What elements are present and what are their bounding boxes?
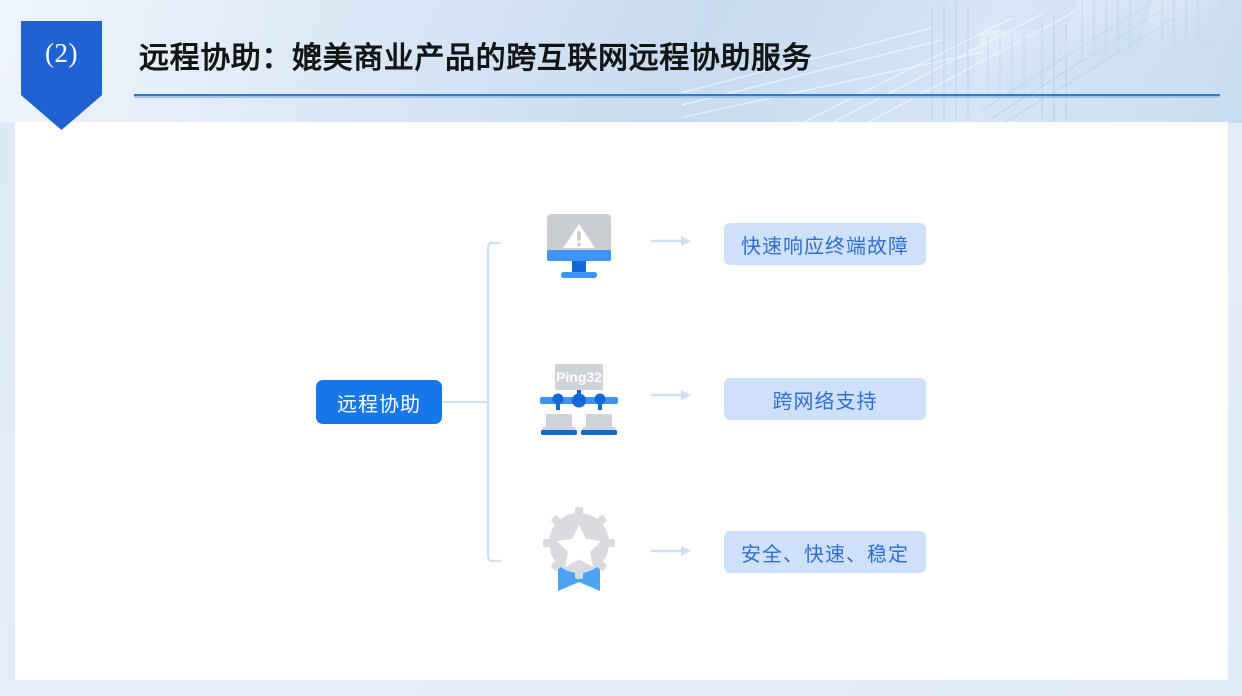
branch-label-text-2: 跨网络支持 [773, 385, 878, 414]
arrow-right-icon-1 [652, 236, 691, 246]
network-icon-caption: Ping32 [556, 369, 602, 385]
branch-label-pill-3[interactable]: 安全、快速、稳定 [724, 531, 926, 573]
monitor-warning-icon [531, 200, 627, 296]
diagram-root-node[interactable]: 远程协助 [316, 380, 442, 424]
mindmap-diagram: 远程协助 Ping32 [0, 0, 1242, 696]
arrow-right-icon-2 [652, 390, 691, 400]
presentation-slide: (2) 远程协助：媲美商业产品的跨互联网远程协助服务 [0, 0, 1242, 696]
branch-label-text-3: 安全、快速、稳定 [741, 538, 909, 567]
page-title: 远程协助：媲美商业产品的跨互联网远程协助服务 [139, 33, 812, 77]
award-badge-star-icon [531, 503, 627, 599]
branch-label-text-1: 快速响应终端故障 [741, 230, 909, 259]
branch-label-pill-1[interactable]: 快速响应终端故障 [724, 223, 926, 265]
title-divider-rule [134, 94, 1220, 98]
arrow-right-icon-3 [652, 546, 691, 556]
slide-number-label: (2) [45, 38, 78, 69]
network-topology-icon: Ping32 [531, 352, 627, 448]
branch-label-pill-2[interactable]: 跨网络支持 [724, 378, 926, 420]
diagram-root-label: 远程协助 [337, 388, 421, 417]
